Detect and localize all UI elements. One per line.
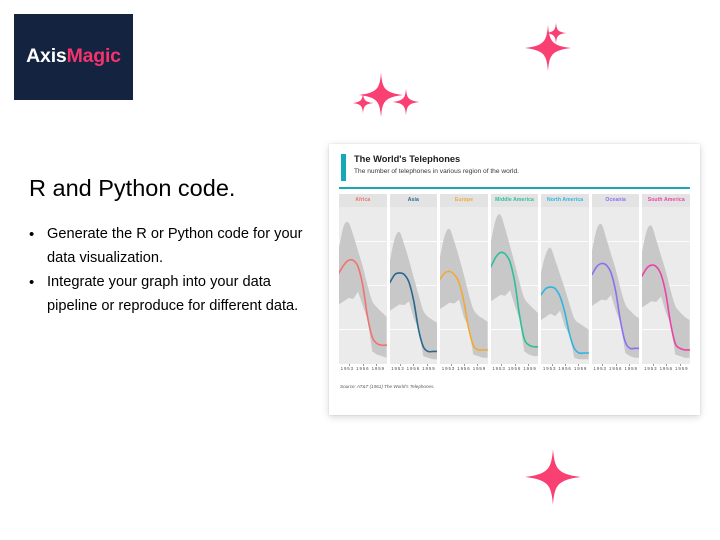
axis-tickmarks [491,364,539,366]
page-title: R and Python code. [29,174,319,202]
axis-tickmarks [339,364,387,366]
facet-strip-label: North America [547,197,583,203]
bullet-marker-icon: • [25,271,47,318]
chart-card-header: The World's Telephones The number of tel… [329,144,700,182]
axis-tick-labels: 1953 1956 1959 [543,366,587,371]
facet-plot-area [541,207,589,364]
brand-logo: AxisMagic [14,14,133,100]
list-item: • Integrate your graph into your data pi… [25,271,310,318]
facet-panel-oceania: Oceania1953 1956 1959 [592,194,640,381]
slide-canvas: AxisMagic R and Python code. • Generate … [0,0,720,540]
axis-tickmarks [541,364,589,366]
axis-tick-labels: 1953 1956 1959 [341,366,385,371]
axis-tick-labels: 1953 1956 1959 [391,366,435,371]
brand-logo-magic: Magic [67,45,121,67]
facet-panel-row: Africa1953 1956 1959Asia1953 1956 1959Eu… [339,194,690,381]
distribution-band [440,228,488,357]
facet-plot-area [491,207,539,364]
axis-tick-labels: 1953 1956 1959 [442,366,486,371]
distribution-band [541,247,589,359]
axis-tick-labels: 1953 1956 1959 [594,366,638,371]
facet-panel-middle-america: Middle America1953 1956 1959 [491,194,539,381]
axis-tickmarks [390,364,438,366]
header-divider [339,187,690,188]
facet-strip-label: Africa [355,197,370,203]
distribution-band [390,231,438,358]
facet-strip-label: Asia [408,197,419,203]
chart-title: The World's Telephones [354,154,688,166]
bullet-list: • Generate the R or Python code for your… [25,223,310,319]
facet-strip: Middle America [491,194,539,207]
facet-x-axis: 1953 1956 1959 [339,364,387,381]
facet-x-axis: 1953 1956 1959 [541,364,589,381]
brand-logo-text: AxisMagic [26,47,121,67]
accent-bar-icon [341,154,346,181]
facet-plot-area [592,207,640,364]
facet-panel-asia: Asia1953 1956 1959 [390,194,438,381]
facet-x-axis: 1953 1956 1959 [440,364,488,381]
sparkle-small-top-left-icon [352,92,374,114]
facet-strip-label: Oceania [605,197,626,203]
list-item: • Generate the R or Python code for your… [25,223,310,270]
chart-source-caption: Source: AT&T (1961) The World's Telephon… [340,384,700,389]
axis-tick-labels: 1953 1956 1959 [644,366,688,371]
facet-panel-europe: Europe1953 1956 1959 [440,194,488,381]
sparkle-small-top-mid-icon [392,88,420,116]
chart-card: The World's Telephones The number of tel… [329,144,700,415]
chart-subtitle: The number of telephones in various regi… [354,168,688,177]
facet-plot-area [390,207,438,364]
facet-strip: South America [642,194,690,207]
facet-x-axis: 1953 1956 1959 [491,364,539,381]
facet-x-axis: 1953 1956 1959 [642,364,690,381]
facet-strip-label: Middle America [495,197,534,203]
axis-tick-labels: 1953 1956 1959 [492,366,536,371]
axis-tickmarks [440,364,488,366]
facet-strip: Africa [339,194,387,207]
facet-plot-area [339,207,387,364]
facet-plot-area [642,207,690,364]
brand-logo-axis: Axis [26,45,66,67]
sparkle-small-top-right-icon [545,22,567,44]
facet-strip-label: Europe [455,197,473,203]
facet-panel-north-america: North America1953 1956 1959 [541,194,589,381]
facet-strip-label: South America [648,197,685,203]
bullet-text: Integrate your graph into your data pipe… [47,271,310,318]
facet-panel-africa: Africa1953 1956 1959 [339,194,387,381]
facet-x-axis: 1953 1956 1959 [592,364,640,381]
facet-panel-south-america: South America1953 1956 1959 [642,194,690,381]
facet-strip: Asia [390,194,438,207]
bullet-text: Generate the R or Python code for your d… [47,223,310,270]
facet-strip: North America [541,194,589,207]
sparkle-large-bottom-icon [524,448,582,506]
facet-strip: Europe [440,194,488,207]
facet-x-axis: 1953 1956 1959 [390,364,438,381]
facet-strip: Oceania [592,194,640,207]
axis-tickmarks [592,364,640,366]
axis-tickmarks [642,364,690,366]
bullet-marker-icon: • [25,223,47,270]
facet-plot-area [440,207,488,364]
